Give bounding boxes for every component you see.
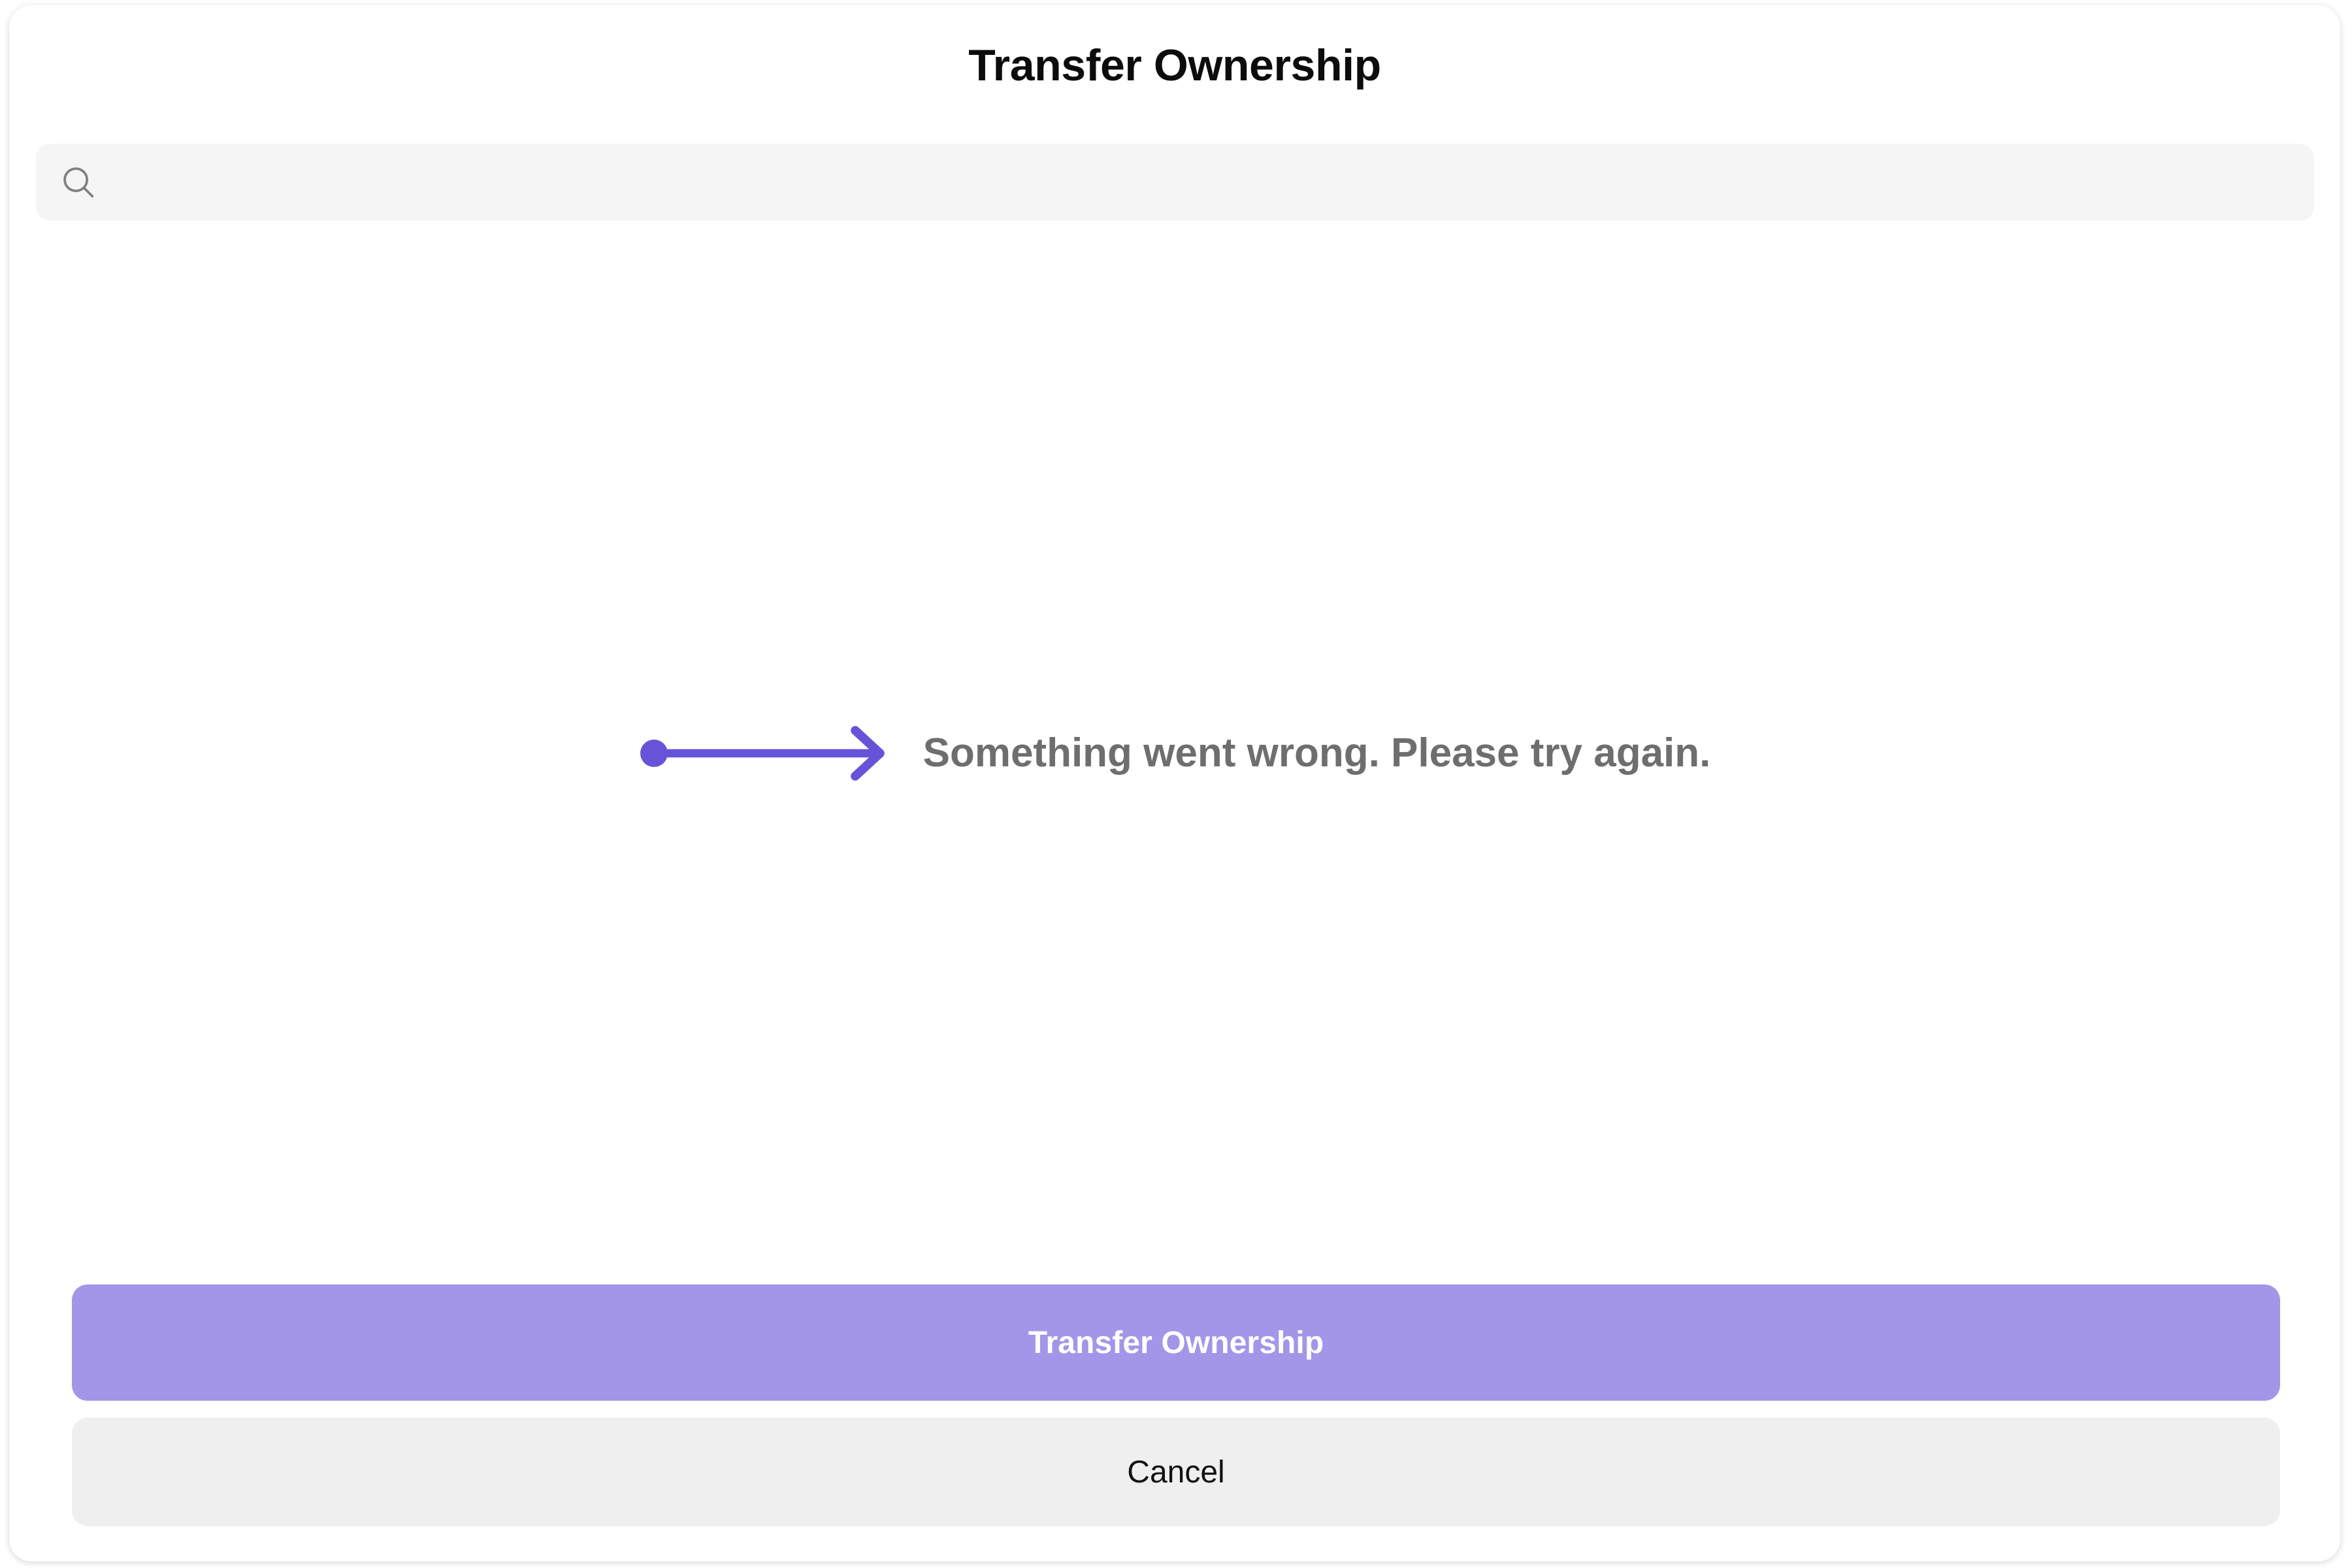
- transfer-ownership-button[interactable]: Transfer Ownership: [72, 1284, 2280, 1401]
- search-field[interactable]: [36, 144, 2314, 221]
- modal-overlay: Transfer Ownership Something went wrong.…: [0, 0, 2352, 1568]
- error-state: Something went wrong. Please try again.: [640, 724, 1711, 783]
- cancel-button[interactable]: Cancel: [72, 1418, 2280, 1526]
- search-icon: [58, 162, 99, 203]
- transfer-ownership-dialog: Transfer Ownership Something went wrong.…: [9, 5, 2340, 1561]
- search-input[interactable]: [99, 144, 2314, 221]
- error-message: Something went wrong. Please try again.: [923, 731, 1711, 776]
- arrow-right-icon: [640, 724, 894, 783]
- page-title: Transfer Ownership: [9, 39, 2340, 93]
- member-list-region: Something went wrong. Please try again.: [36, 234, 2314, 1260]
